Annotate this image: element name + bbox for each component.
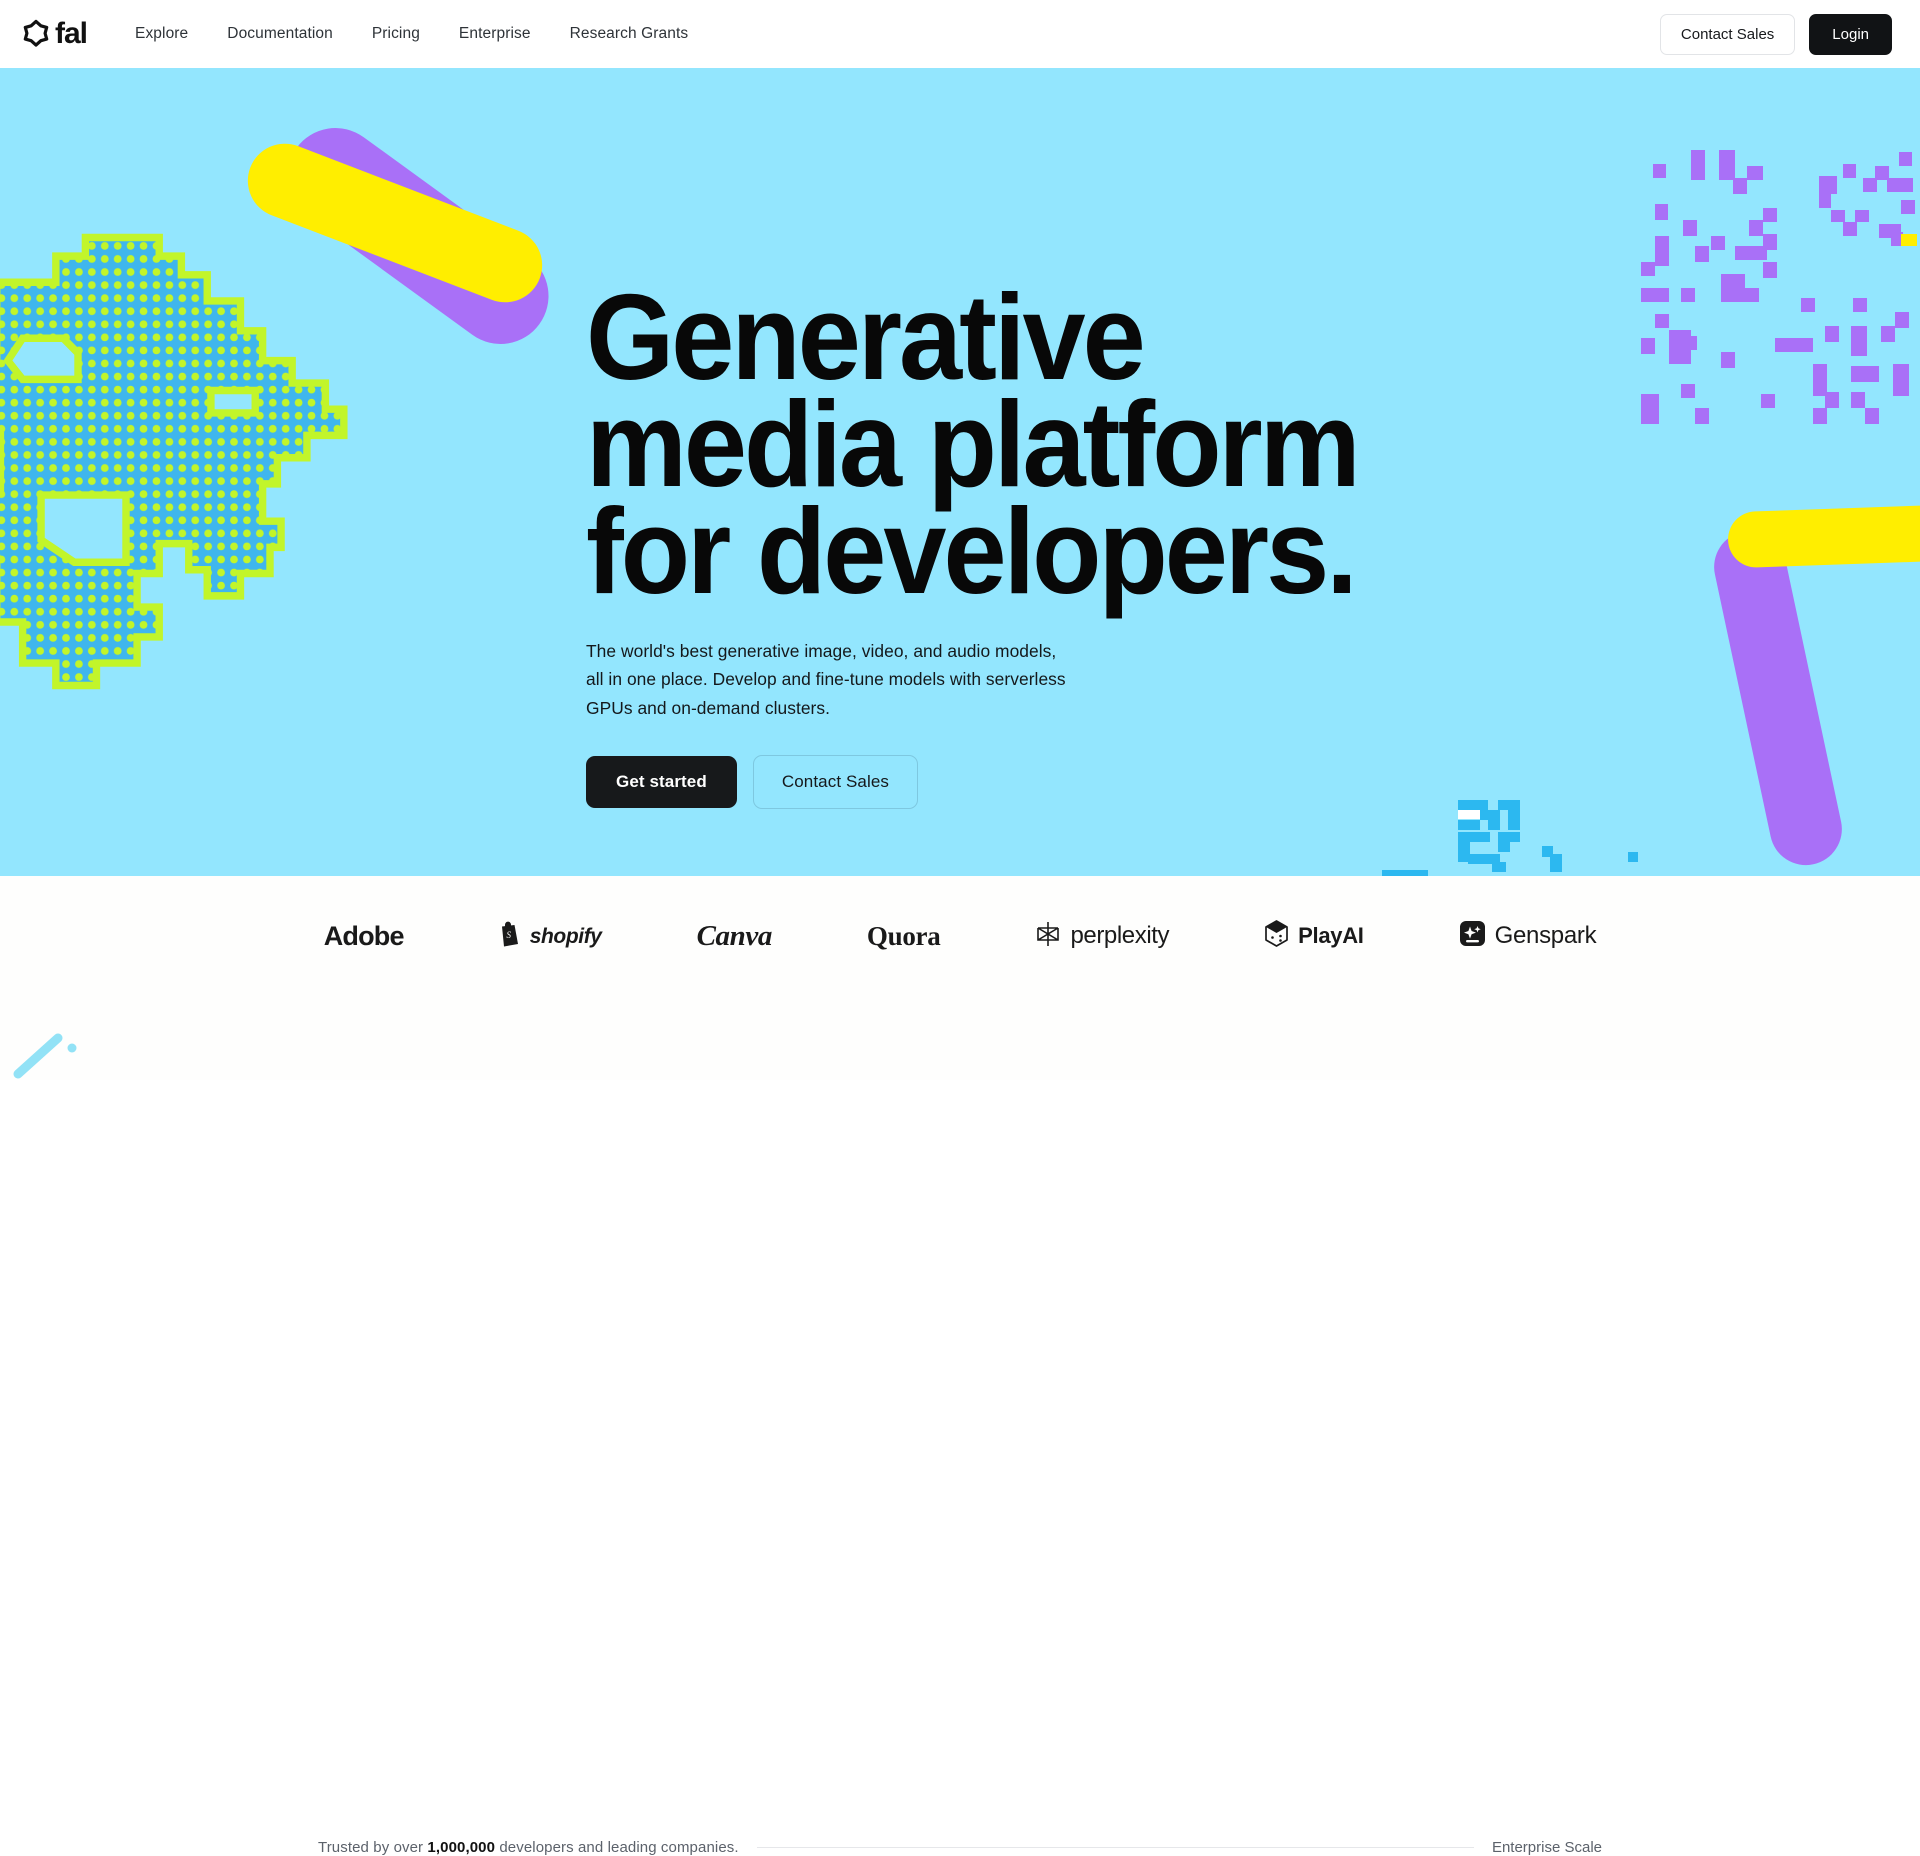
logo-shopify: S shopify <box>499 916 602 956</box>
perplexity-star-icon <box>1035 920 1061 953</box>
trust-divider-line <box>757 1847 1474 1848</box>
shopify-bag-icon: S <box>499 921 521 952</box>
login-button[interactable]: Login <box>1809 14 1892 55</box>
trusted-suffix: developers and leading companies. <box>495 1839 739 1856</box>
nav-item-pricing[interactable]: Pricing <box>372 25 420 43</box>
trusted-count: 1,000,000 <box>427 1839 495 1856</box>
pixel-creature-graphic <box>0 174 462 734</box>
hero-section: Generative media platform for developers… <box>0 68 1920 876</box>
trusted-by-text: Trusted by over 1,000,000 developers and… <box>318 1839 739 1856</box>
yellow-capsule-right <box>1727 504 1920 569</box>
nav-item-explore[interactable]: Explore <box>135 25 188 43</box>
nav-links: Explore Documentation Pricing Enterprise… <box>135 25 688 43</box>
nav-item-documentation[interactable]: Documentation <box>227 25 333 43</box>
hero-cta-row: Get started Contact Sales <box>586 755 1446 809</box>
purple-capsule-top <box>268 109 567 363</box>
brand-logo[interactable]: fal <box>18 19 87 49</box>
trust-row: Trusted by over 1,000,000 developers and… <box>0 1839 1920 1856</box>
contact-sales-button[interactable]: Contact Sales <box>1660 14 1795 55</box>
brand-wordmark: fal <box>55 19 87 49</box>
enterprise-scale-label: Enterprise Scale <box>1492 1839 1602 1856</box>
logo-quora: Quora <box>867 916 941 956</box>
logo-adobe: Adobe <box>324 916 404 956</box>
headline-line-2: media platform <box>586 391 1386 498</box>
get-started-button[interactable]: Get started <box>586 756 737 808</box>
hero-subtext: The world's best generative image, video… <box>586 637 1066 722</box>
fal-hexagon-logo-icon <box>21 19 51 49</box>
nav-item-research-grants[interactable]: Research Grants <box>570 25 689 43</box>
headline-line-3: for developers. <box>586 498 1386 605</box>
logo-canva: Canva <box>697 916 772 956</box>
hero-copy: Generative media platform for developers… <box>586 284 1446 809</box>
purple-capsule-right <box>1707 524 1848 872</box>
nav-actions: Contact Sales Login <box>1660 14 1892 55</box>
hero-contact-sales-button[interactable]: Contact Sales <box>753 755 918 809</box>
corner-accent-stroke <box>0 1016 130 1080</box>
nav-item-enterprise[interactable]: Enterprise <box>459 25 531 43</box>
svg-text:S: S <box>506 930 511 940</box>
headline-line-1: Generative <box>586 284 1386 391</box>
logo-perplexity: perplexity <box>1035 916 1169 956</box>
customer-logos: Adobe S shopify Canva Quora <box>0 904 1920 968</box>
logo-playai: PlayAI <box>1264 916 1363 956</box>
page-title: Generative media platform for developers… <box>586 284 1386 604</box>
social-proof-strip: Adobe S shopify Canva Quora <box>0 876 1920 1080</box>
trusted-prefix: Trusted by over <box>318 1839 427 1856</box>
playai-cube-icon <box>1264 920 1289 952</box>
logo-genspark: Genspark <box>1459 916 1597 956</box>
top-navigation-bar: fal Explore Documentation Pricing Enterp… <box>0 0 1920 68</box>
yellow-capsule-top <box>237 133 553 313</box>
genspark-sparkle-icon <box>1459 920 1486 952</box>
purple-pixel-field <box>1625 140 1920 440</box>
